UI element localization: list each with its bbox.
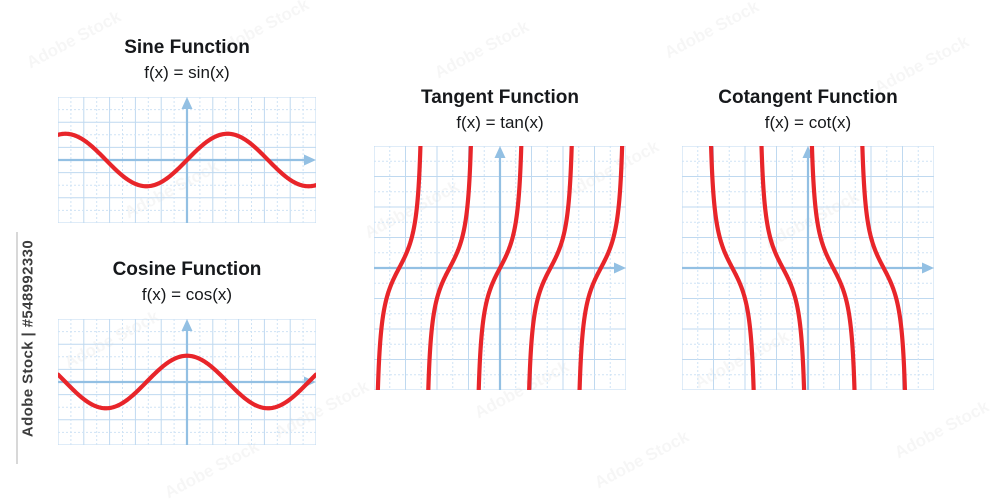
tangent-chart: [374, 146, 626, 390]
panel-sine-function: Sine Function f(x) = sin(x): [24, 36, 350, 223]
y-axis-arrow-icon: [182, 319, 193, 331]
watermark-tile: Adobe Stock: [891, 397, 992, 463]
plot-area-sine: [24, 97, 350, 223]
plot-area-tangent: [364, 146, 636, 390]
panel-title: Tangent Function: [364, 86, 636, 110]
plot-area-cotangent: [668, 146, 948, 390]
panel-title: Sine Function: [24, 36, 350, 60]
watermark-tile: Adobe Stock: [591, 427, 692, 493]
panel-formula: f(x) = sin(x): [24, 62, 350, 84]
panel-title: Cosine Function: [24, 258, 350, 282]
watermark-tile: Adobe Stock: [431, 17, 532, 83]
y-axis-arrow-icon: [495, 146, 506, 158]
cosine-chart: [58, 319, 316, 445]
panel-formula: f(x) = tan(x): [364, 112, 636, 134]
plot-area-cosine: [24, 319, 350, 445]
panel-cosine-function: Cosine Function f(x) = cos(x): [24, 258, 350, 445]
x-axis-arrow-icon: [304, 154, 316, 165]
y-axis-arrow-icon: [182, 97, 193, 109]
panel-formula: f(x) = cos(x): [24, 284, 350, 306]
cotangent-chart: [682, 146, 934, 390]
x-axis-arrow-icon: [614, 262, 626, 273]
watermark-tile: Adobe Stock: [661, 0, 762, 63]
panel-title: Cotangent Function: [668, 86, 948, 110]
watermark-tile: Adobe Stock: [161, 437, 262, 503]
panel-tangent-function: Tangent Function f(x) = tan(x): [364, 86, 636, 390]
panel-formula: f(x) = cot(x): [668, 112, 948, 134]
watermark-divider: [16, 232, 18, 464]
panel-cotangent-function: Cotangent Function f(x) = cot(x): [668, 86, 948, 390]
sine-chart: [58, 97, 316, 223]
x-axis-arrow-icon: [922, 262, 934, 273]
